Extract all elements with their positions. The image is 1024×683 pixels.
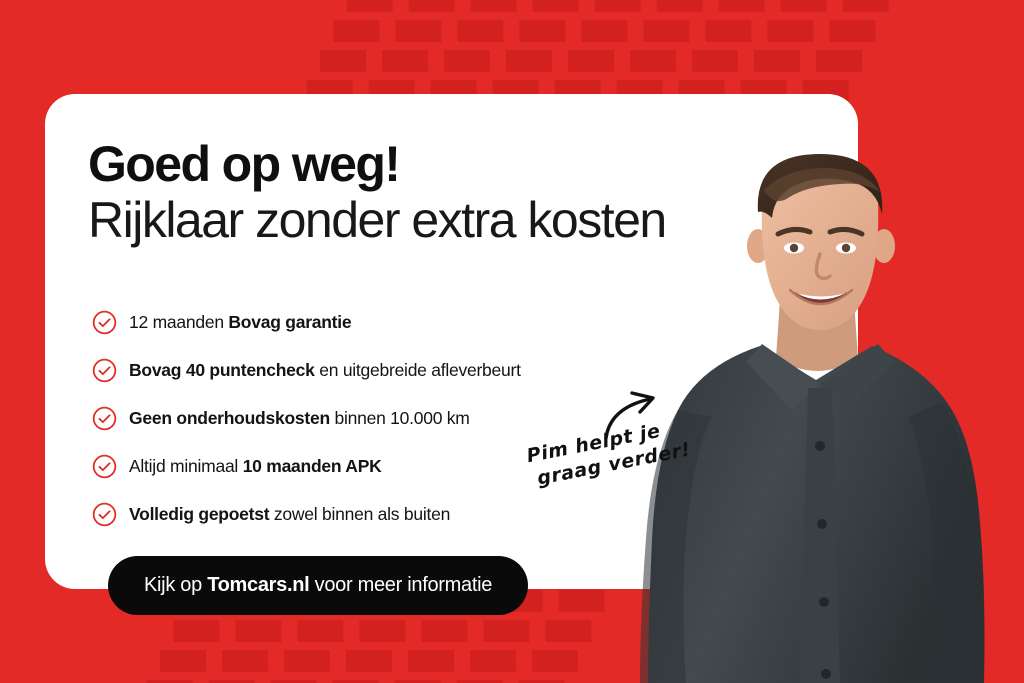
text-bold: Bovag 40 puntencheck [129, 360, 315, 380]
cta-text-post: voor meer informatie [309, 574, 492, 596]
check-circle-icon [92, 502, 117, 527]
check-circle-icon [92, 310, 117, 335]
list-item-label: Altijd minimaal 10 maanden APK [129, 456, 382, 477]
check-circle-icon [92, 406, 117, 431]
cta-text-pre: Kijk op [144, 574, 207, 596]
cta-brand: Tomcars.nl [207, 574, 309, 596]
list-item-label: Geen onderhoudskosten binnen 10.000 km [129, 408, 470, 429]
text-bold: Bovag garantie [228, 312, 351, 332]
promo-banner: Goed op weg! Rijklaar zonder extra koste… [0, 0, 1024, 683]
text-post: zowel binnen als buiten [269, 504, 450, 524]
text-bold: Geen onderhoudskosten [129, 408, 330, 428]
cta-button[interactable]: Kijk op Tomcars.nl voor meer informatie [108, 556, 528, 615]
text-pre: 12 maanden [129, 312, 228, 332]
text-bold: 10 maanden APK [243, 456, 382, 476]
list-item-label: Bovag 40 puntencheck en uitgebreide afle… [129, 360, 521, 381]
list-item-label: 12 maanden Bovag garantie [129, 312, 351, 333]
check-circle-icon [92, 358, 117, 383]
text-post: en uitgebreide afleverbeurt [315, 360, 521, 380]
text-post: binnen 10.000 km [330, 408, 470, 428]
text-pre: Altijd minimaal [129, 456, 243, 476]
list-item-label: Volledig gepoetst zowel binnen als buite… [129, 504, 450, 525]
text-bold: Volledig gepoetst [129, 504, 269, 524]
cta-label: Kijk op Tomcars.nl voor meer informatie [144, 574, 492, 597]
check-circle-icon [92, 454, 117, 479]
